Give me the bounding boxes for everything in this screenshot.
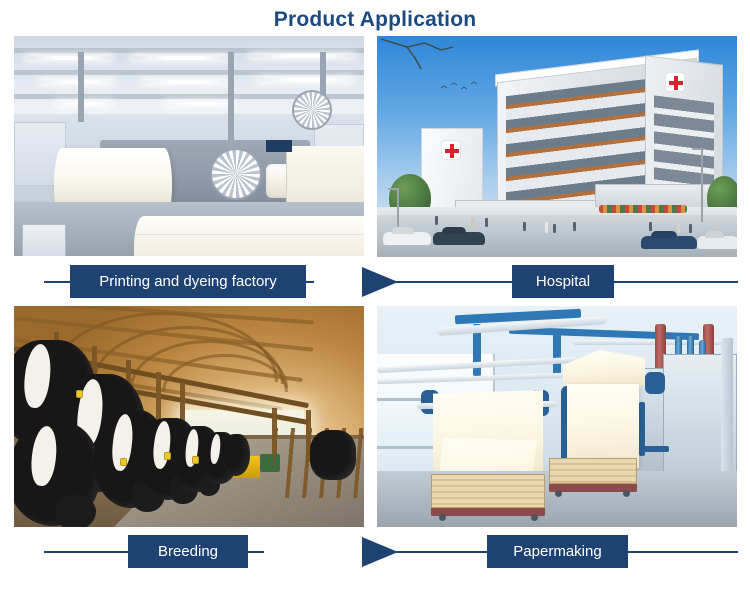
cart-wheel [531,514,538,521]
pedestrian [545,222,548,233]
cow-face-blaze [210,434,222,465]
car [641,236,697,249]
flow-row-2: Breeding Papermaking [0,535,750,569]
cow-face-blaze [22,343,53,409]
cow-ear-tag [164,452,171,460]
cow [222,434,250,476]
cart-wheel [623,490,630,497]
ceiling-light [26,56,112,60]
photo-printing-and-dyeing-factory [14,36,364,256]
fabric-roll-foreground [134,216,364,256]
ceiling-light [40,80,114,84]
flower-bed [599,205,687,213]
paper-cart [549,458,637,484]
pedestrian [485,218,488,227]
flow-label-hospital[interactable]: Hospital [512,265,614,298]
frame-post [639,402,645,456]
cow-ear-tag [120,458,127,466]
red-cross-icon [665,72,685,92]
pedestrian [471,218,474,227]
ceiling-light [132,56,228,60]
photo-papermaking [377,306,737,527]
car [697,236,737,249]
scene-papermaking-mill [377,306,737,527]
flow-label-papermaking[interactable]: Papermaking [487,535,628,568]
pedestrian [435,216,438,225]
pedestrian [573,222,576,231]
cow-ear-tag [192,456,199,464]
pedestrian [553,224,556,233]
ceiling-light [56,102,112,106]
pedestrian [649,222,652,231]
arrow-right-icon [362,537,398,567]
cow-face-blaze [29,425,59,487]
cow [14,422,100,526]
paper-web [567,384,639,468]
ceiling-post [78,52,84,122]
pedestrian [677,224,680,233]
flow-label-printing-and-dyeing-factory[interactable]: Printing and dyeing factory [70,265,306,298]
street-lamp [397,188,399,230]
cart-wheel [555,490,562,497]
red-cross-icon [441,140,461,160]
ceiling-light [258,78,354,82]
roller-fan-wheel [210,148,262,200]
ceiling-beam [14,48,364,53]
photo-hospital [377,36,737,257]
roller-fan-wheel [292,90,332,130]
flow-label-breeding[interactable]: Breeding [128,535,248,568]
photo-breeding [14,306,364,527]
pedestrian [523,222,526,231]
machine-panel-label [266,140,292,152]
tree-branch-icon [381,38,471,72]
cow-snout [56,495,96,527]
flow-row-1: Printing and dyeing factory Hospital [0,265,750,299]
ceiling-beam [14,70,364,75]
ceiling-beam-blue [553,332,561,378]
scene-textile-factory [14,36,364,256]
ceiling-post [228,52,234,148]
fabric-crate [22,224,66,256]
car [433,232,485,245]
flow-line [610,281,738,283]
cow-face-blaze [152,421,173,470]
roller-mount [645,372,665,394]
cart-wheel [439,514,446,521]
scene-cattle-barn [14,306,364,527]
scene-hospital-exterior [377,36,737,257]
arrow-right-icon [362,267,398,297]
paper-cart [431,474,545,508]
flow-line [624,551,738,553]
car [383,232,431,245]
page-title: Product Application [0,8,750,32]
street-lamp [701,148,703,222]
ceiling-light [142,80,230,84]
pedestrian [689,224,692,233]
birds-icon [439,80,483,94]
ceiling-light [164,102,234,106]
cow [310,430,356,480]
ceiling-light [250,54,354,58]
cow-ear-tag [76,390,83,398]
product-application-page: Product Application [0,0,750,592]
